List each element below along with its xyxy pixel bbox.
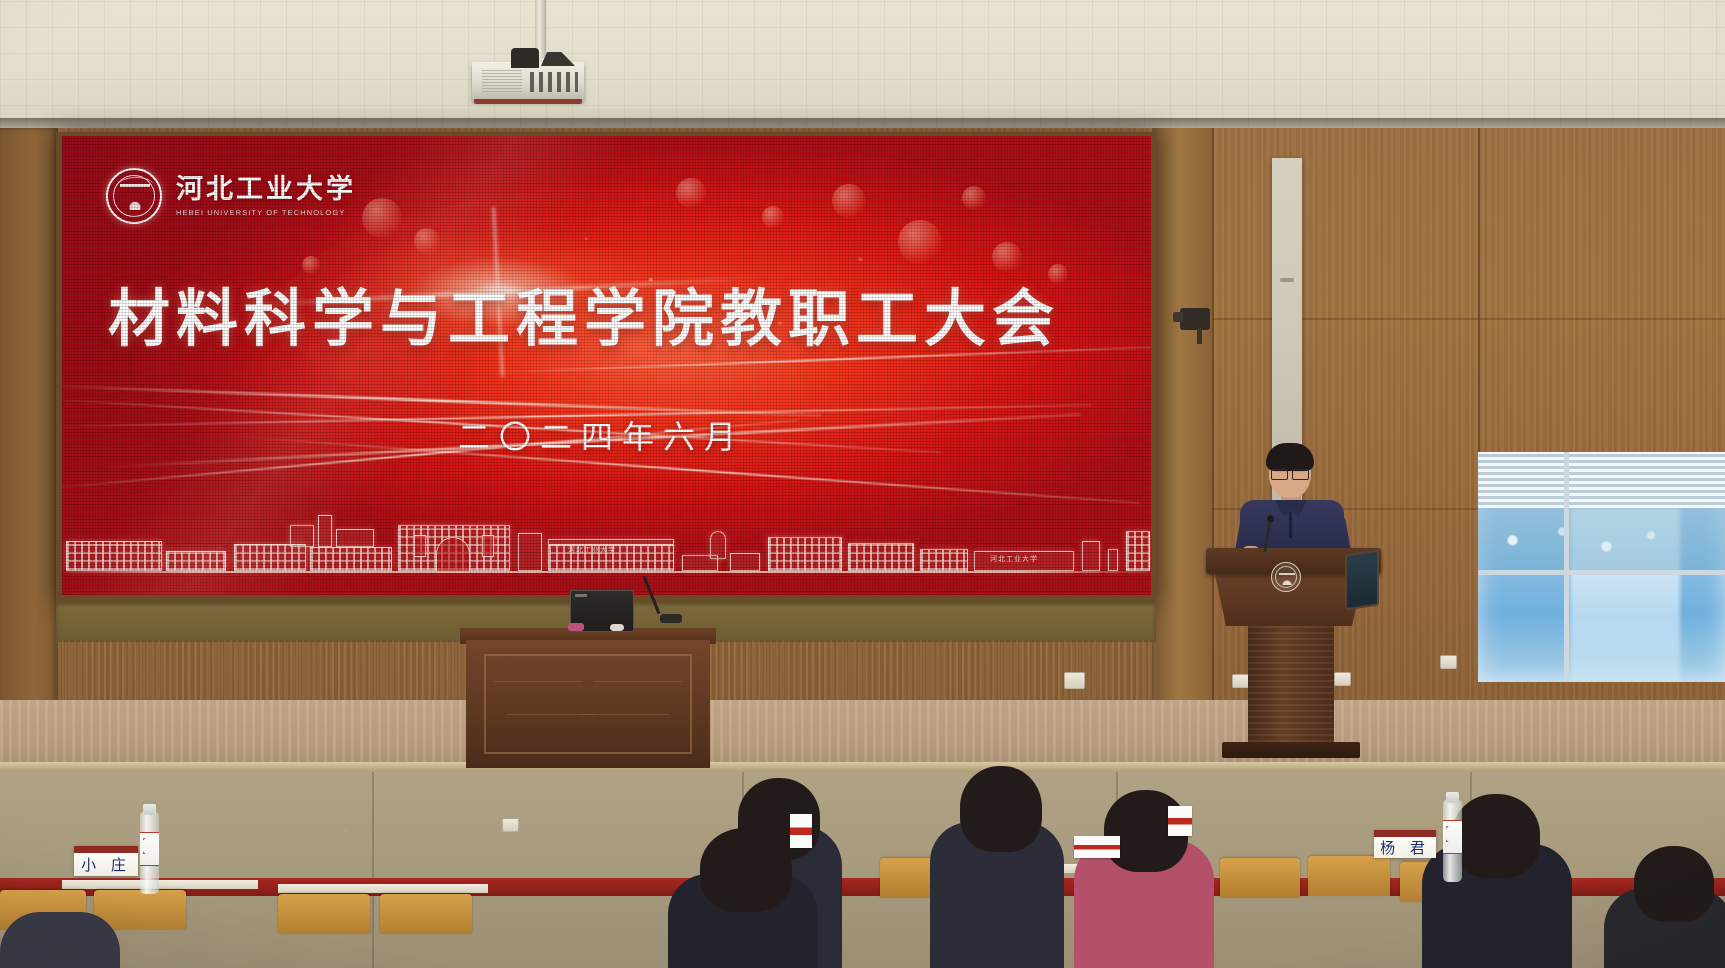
audience-desk-edge xyxy=(62,880,258,889)
bottle-cap xyxy=(1446,792,1459,803)
wall-camera-icon xyxy=(1180,308,1210,330)
podium-column xyxy=(1248,620,1334,748)
wall-seam xyxy=(1478,128,1480,452)
skyline-plaque-text: 河北工业大学 xyxy=(990,554,1038,564)
wall-seam xyxy=(1212,128,1214,768)
glasses-icon xyxy=(1271,469,1309,478)
audience-desk-edge xyxy=(278,884,488,893)
skyline-building xyxy=(1126,531,1150,571)
seat-number-card xyxy=(790,814,812,848)
skyline-pillar xyxy=(1108,549,1118,571)
window-foliage xyxy=(1478,508,1725,570)
skyline-building xyxy=(290,525,314,547)
window-blind xyxy=(1478,452,1725,508)
wall-pilaster xyxy=(1152,128,1212,768)
seat[interactable] xyxy=(380,894,472,934)
bottle-cap xyxy=(143,804,156,815)
campus-skyline-graphic: 河北工业大学 河北工业大学 xyxy=(62,497,1151,571)
wall-outlet[interactable] xyxy=(1440,655,1457,669)
stage-panel-joint xyxy=(372,772,374,968)
bottle-label xyxy=(1443,820,1462,854)
bottle-label xyxy=(140,832,159,866)
university-crest-icon xyxy=(1271,562,1301,592)
seat-number-card xyxy=(1168,806,1192,836)
skyline-tower xyxy=(318,515,332,547)
wall-outlet[interactable] xyxy=(1064,672,1085,689)
wall-outlet[interactable] xyxy=(1232,674,1249,688)
audience-head xyxy=(1634,846,1714,922)
confidence-monitor[interactable] xyxy=(1345,550,1379,611)
desk-microphone-base xyxy=(660,614,682,623)
name-card: 杨 君 xyxy=(1374,830,1436,858)
screen-main-title: 材料科学与工程学院教职工大会 xyxy=(108,288,1118,350)
bokeh-orb xyxy=(962,186,986,210)
skyline-building xyxy=(166,551,226,571)
name-card-text: 小 庄 xyxy=(81,854,131,875)
projector-lens xyxy=(511,48,539,68)
desk-white-object xyxy=(610,624,624,631)
projector-vent xyxy=(482,70,522,92)
audience-head xyxy=(960,766,1042,852)
stage-floor xyxy=(0,700,1725,770)
desk-diamond-inlay xyxy=(500,668,676,726)
seat[interactable] xyxy=(1308,856,1390,896)
seal-inner-mark xyxy=(120,184,150,210)
seat-number-card xyxy=(1074,836,1120,858)
skyline-plaque-text: 河北工业大学 xyxy=(568,545,616,555)
skyline-building xyxy=(848,543,914,571)
projector-ports xyxy=(530,72,578,92)
audience-head xyxy=(700,828,792,912)
logo-chinese-name: 河北工业大学 xyxy=(176,176,356,203)
daylight-window xyxy=(1478,452,1725,682)
skyline-building xyxy=(66,541,162,571)
skyline-gate-arch xyxy=(436,537,470,571)
skyline-building xyxy=(920,549,968,571)
skyline-building xyxy=(336,529,374,547)
wall-outlet[interactable] xyxy=(1334,672,1351,686)
logo-text-block: 河北工业大学 HEBEI UNIVERSITY OF TECHNOLOGY xyxy=(176,176,356,217)
name-card-text: 杨 君 xyxy=(1380,837,1430,858)
screen-university-logo: 河北工业大学 HEBEI UNIVERSITY OF TECHNOLOGY xyxy=(106,168,356,224)
screen-date-line: 二〇二四年六月 xyxy=(458,412,745,458)
logo-english-name: HEBEI UNIVERSITY OF TECHNOLOGY xyxy=(176,208,356,217)
window-mullion xyxy=(1564,452,1569,682)
skyline-gate-window xyxy=(414,535,426,557)
wall-camera-mount xyxy=(1197,328,1202,344)
skyline-building xyxy=(310,547,392,571)
window-transom xyxy=(1478,570,1725,575)
audience-member xyxy=(0,912,120,968)
presenter-shirt-placket xyxy=(1289,512,1292,538)
university-seal-icon xyxy=(106,168,162,224)
wall-left-column xyxy=(0,128,58,768)
wall-outlet[interactable] xyxy=(502,818,519,832)
ceiling xyxy=(0,0,1725,132)
skyline-building xyxy=(730,553,760,571)
skyline-dome xyxy=(710,531,726,559)
skyline-gate-window xyxy=(482,535,494,557)
seat[interactable] xyxy=(1220,858,1300,898)
presenter-hair xyxy=(1266,443,1314,471)
skyline-building xyxy=(768,537,842,571)
led-screen: 河北工业大学 HEBEI UNIVERSITY OF TECHNOLOGY 材料… xyxy=(62,136,1151,595)
audience-head xyxy=(1452,794,1540,878)
seat[interactable] xyxy=(278,894,370,934)
podium-base xyxy=(1222,742,1360,758)
skyline-pillar xyxy=(1082,541,1100,571)
skyline-building xyxy=(234,544,306,571)
conference-hall-photo: 河北工业大学 HEBEI UNIVERSITY OF TECHNOLOGY 材料… xyxy=(0,0,1725,968)
skyline-pillar xyxy=(518,533,542,571)
desk-pink-object xyxy=(568,623,584,631)
name-card: 小 庄 xyxy=(74,846,138,876)
